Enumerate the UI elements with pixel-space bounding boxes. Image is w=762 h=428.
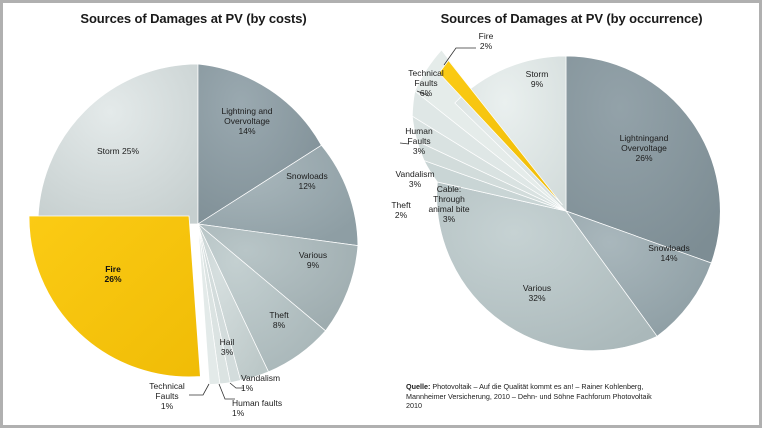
source-citation-text: Photovoltaik – Auf die Qualität kommt es… bbox=[406, 382, 652, 410]
pie-chart-by-costs bbox=[3, 3, 384, 425]
pie-chart-by-occurrence bbox=[384, 3, 759, 425]
screenshot-canvas: Sources of Damages at PV (by costs) bbox=[0, 0, 762, 428]
source-citation: Quelle: Photovoltaik – Auf die Qualität … bbox=[406, 382, 656, 411]
pie-slice-storm bbox=[38, 64, 198, 224]
chart-panel-by-costs: Sources of Damages at PV (by costs) bbox=[3, 3, 384, 425]
pie-slice-fire bbox=[29, 216, 200, 377]
pie-slices-right-group bbox=[412, 50, 720, 351]
source-citation-prefix: Quelle: bbox=[406, 382, 430, 391]
leader-lines-left bbox=[189, 383, 244, 399]
chart-panel-by-occurrence: Sources of Damages at PV (by occurrence) bbox=[384, 3, 759, 425]
